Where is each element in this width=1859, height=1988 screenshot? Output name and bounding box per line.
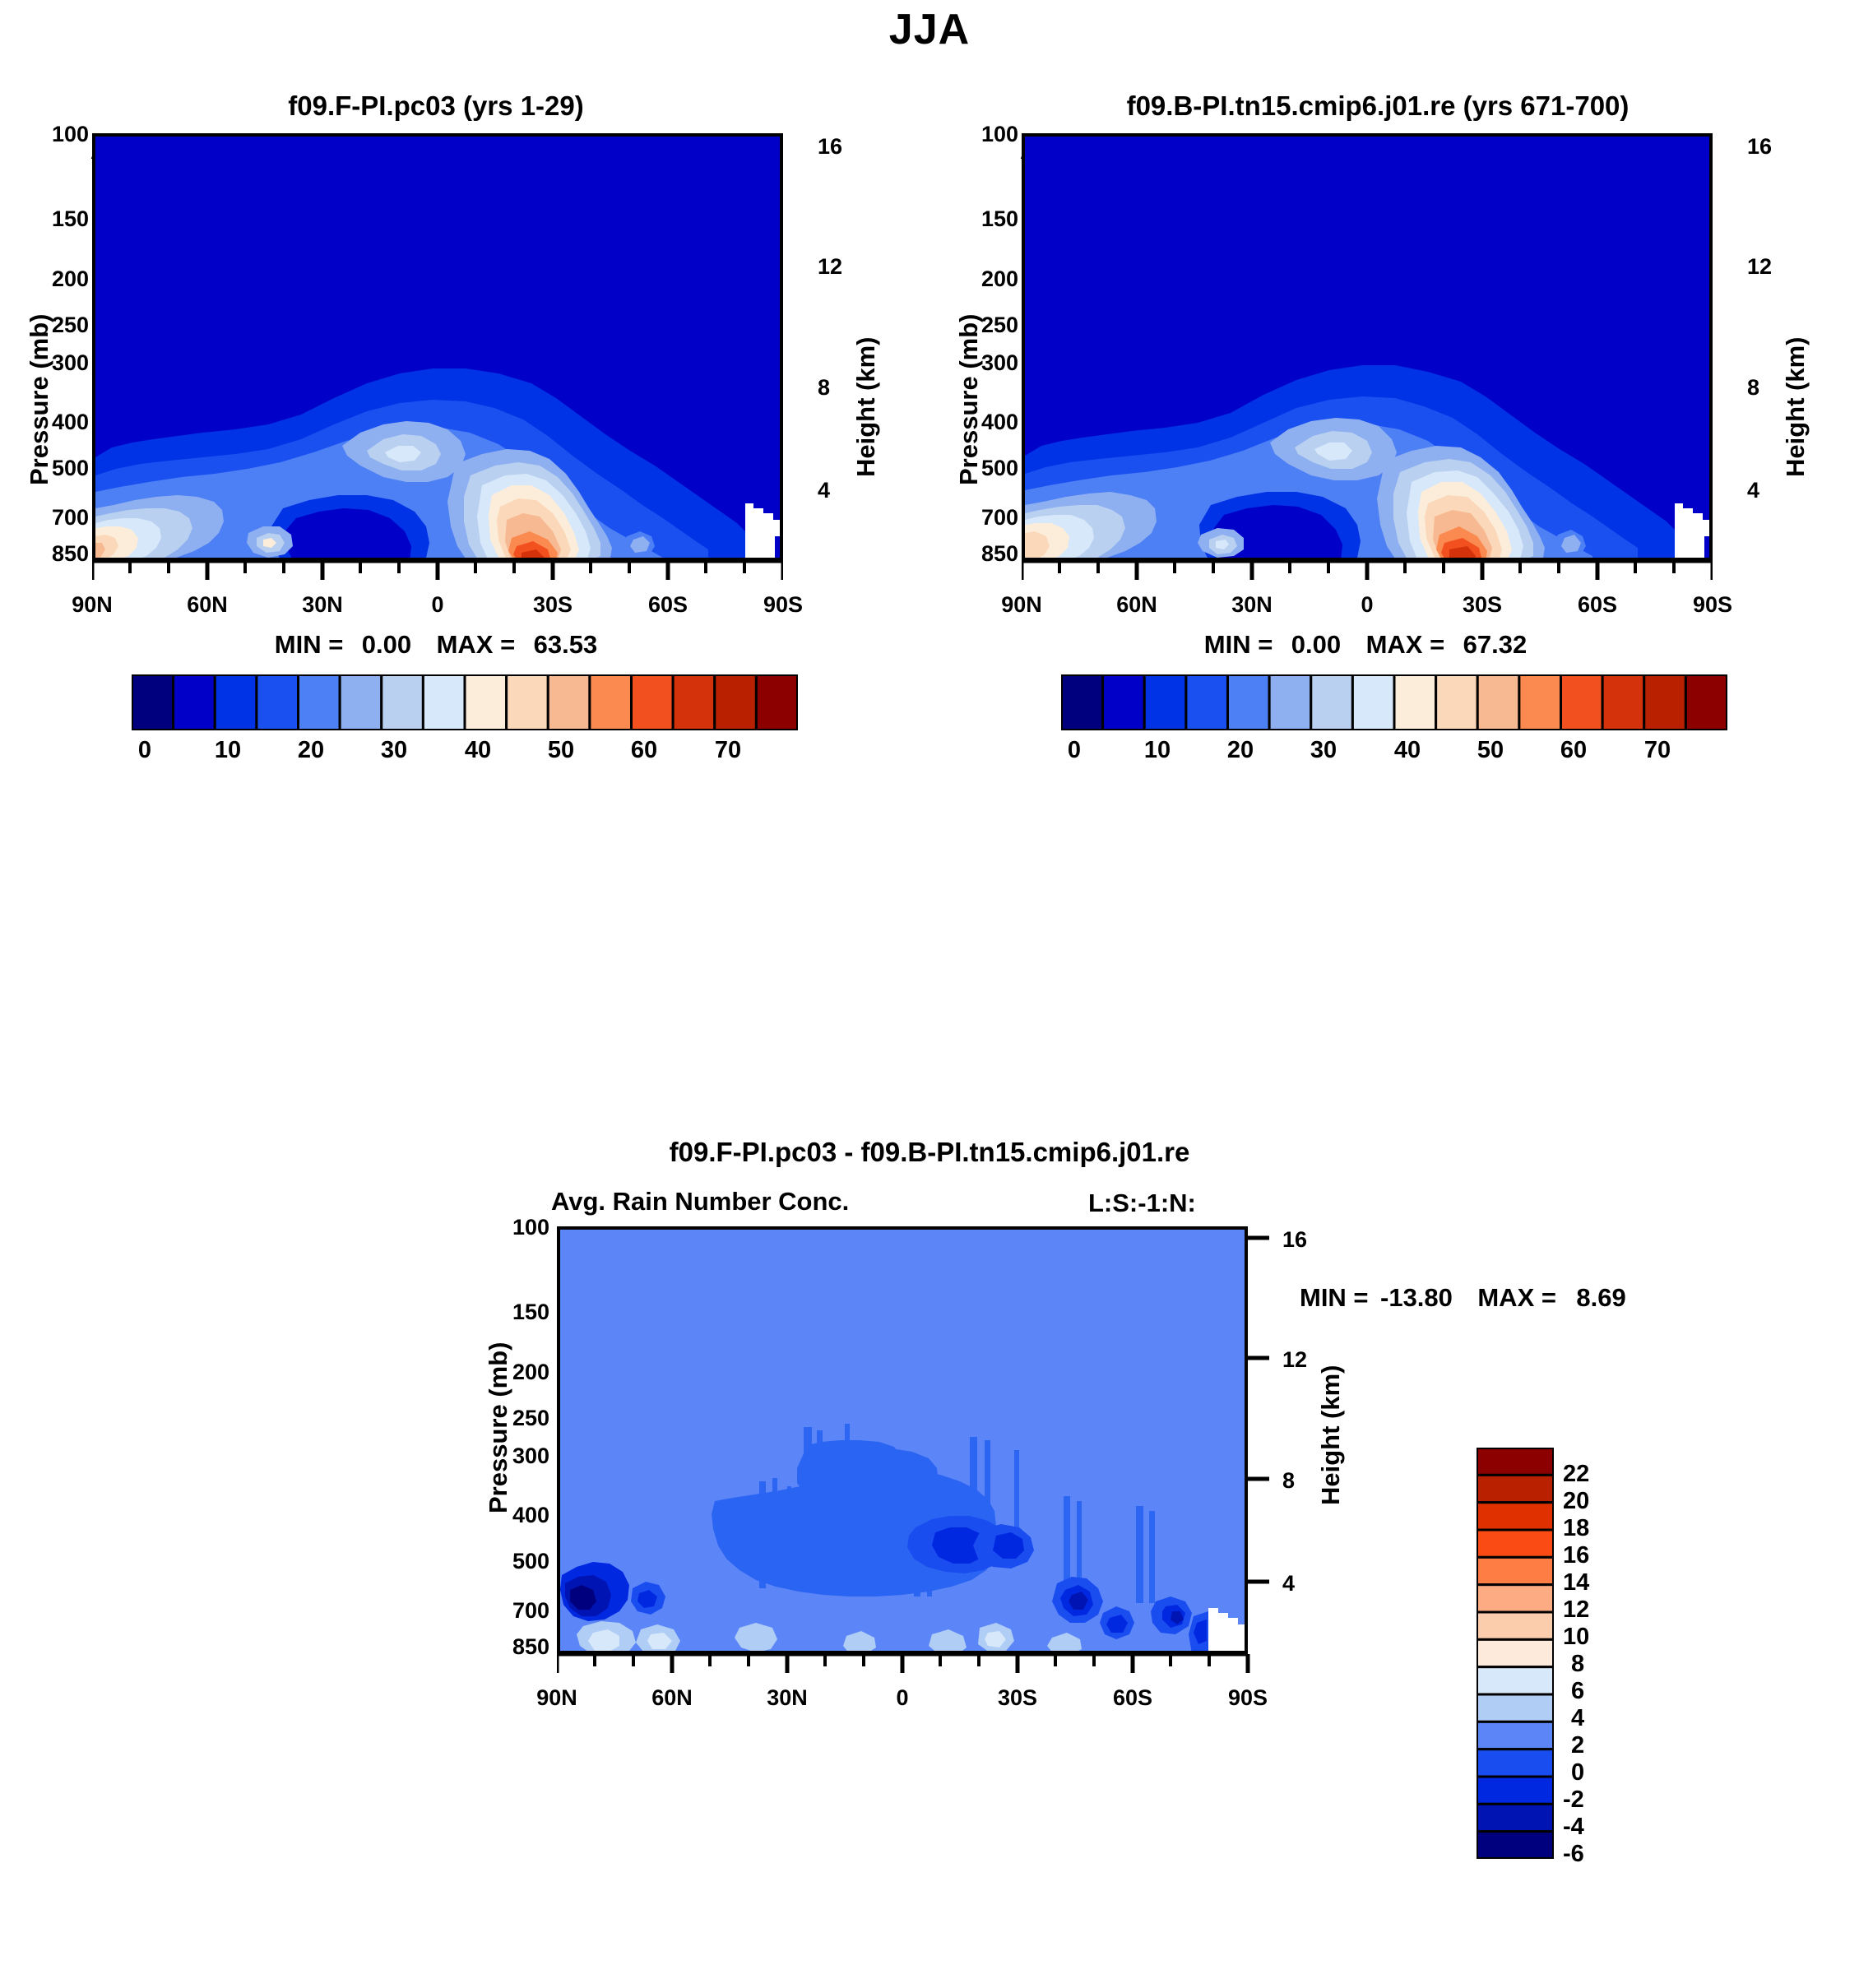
y2tick-8: 8 <box>1747 375 1788 401</box>
colorbar-swatch <box>1144 674 1186 730</box>
colorbar-swatch <box>1228 674 1270 730</box>
colorbar-swatch <box>423 674 465 730</box>
xtick-30N: 30N <box>290 592 355 618</box>
ytick-500: 500 <box>500 1549 549 1574</box>
cbtick-2: 2 <box>1571 1732 1584 1759</box>
colorbar-swatch <box>1061 674 1103 730</box>
ytick-100: 100 <box>500 1215 549 1240</box>
panel-bottom-subtitle-left: Avg. Rain Number Conc. <box>551 1187 849 1216</box>
max-label: MAX = <box>1366 630 1445 659</box>
cbtick-14: 14 <box>1563 1569 1589 1596</box>
xtick-60S: 60S <box>1100 1685 1166 1711</box>
min-value: 0.00 <box>362 630 411 659</box>
colorbar-swatch <box>673 674 715 730</box>
colorbar-swatch <box>132 674 174 730</box>
xtick-90N: 90N <box>989 592 1055 618</box>
xtick-60N: 60N <box>174 592 240 618</box>
y2tick-16: 16 <box>1747 134 1788 160</box>
colorbar-swatch <box>1352 674 1394 730</box>
ytick-700: 700 <box>969 505 1018 531</box>
colorbar-swatch <box>1477 674 1519 730</box>
y2tick-12: 12 <box>818 254 859 280</box>
ytick-850: 850 <box>969 541 1018 567</box>
panel-bottom-title: f09.F-PI.pc03 - f09.B-PI.tn15.cmip6.j01.… <box>461 1137 1398 1168</box>
panel-bottom-difference: f09.F-PI.pc03 - f09.B-PI.tn15.cmip6.j01.… <box>0 1102 1859 1988</box>
colorbar-swatch <box>1685 674 1727 730</box>
cbtick-10: 10 <box>1563 1624 1589 1651</box>
panel-top-left-y2label: Height (km) <box>851 337 881 478</box>
ytick-500: 500 <box>969 456 1018 481</box>
ytick-250: 250 <box>969 313 1018 338</box>
colorbar-swatch <box>1477 1804 1554 1831</box>
colorbar-swatch <box>1269 674 1311 730</box>
colorbar-swatch <box>257 674 299 730</box>
colorbar-swatch <box>1644 674 1686 730</box>
cbtick-n6: -6 <box>1563 1841 1584 1868</box>
y2tick-4: 4 <box>1747 478 1788 503</box>
colorbar-swatch <box>1602 674 1644 730</box>
figure-super-title: JJA <box>0 5 1859 54</box>
panel-top-left-axis-ticks <box>92 133 783 610</box>
ytick-150: 150 <box>39 206 89 232</box>
ytick-300: 300 <box>39 350 89 376</box>
panel-top-left: f09.F-PI.pc03 (yrs 1-29) Avg. Rain Numbe… <box>0 49 929 1135</box>
colorbar-swatch <box>1311 674 1353 730</box>
cbtick-60: 60 <box>1547 737 1600 764</box>
y2tick-8: 8 <box>818 375 859 401</box>
ytick-150: 150 <box>969 206 1018 232</box>
cbtick-70: 70 <box>702 737 754 764</box>
colorbar-swatch <box>1477 1749 1554 1777</box>
xtick-30S: 30S <box>985 1685 1050 1711</box>
min-label: MIN = <box>1204 630 1273 659</box>
ytick-200: 200 <box>39 266 89 292</box>
colorbar-swatch <box>590 674 632 730</box>
ytick-250: 250 <box>500 1406 549 1431</box>
panel-top-right-axis-ticks <box>1022 133 1713 610</box>
y2tick-12: 12 <box>1747 254 1788 280</box>
colorbar-swatch <box>756 674 798 730</box>
colorbar-swatch <box>215 674 257 730</box>
colorbar-swatch <box>632 674 674 730</box>
min-value: 0.00 <box>1291 630 1341 659</box>
colorbar-swatch <box>1477 1612 1554 1639</box>
xtick-60S: 60S <box>1565 592 1630 618</box>
cbtick-10: 10 <box>202 737 254 764</box>
colorbar-swatch <box>1477 1530 1554 1557</box>
ytick-700: 700 <box>39 505 89 531</box>
ytick-400: 400 <box>39 410 89 435</box>
panel-top-right: f09.B-PI.tn15.cmip6.j01.re (yrs 671-700)… <box>929 49 1859 1135</box>
ytick-250: 250 <box>39 313 89 338</box>
min-label: MIN = <box>275 630 344 659</box>
cbtick-0: 0 <box>1571 1759 1584 1786</box>
panel-top-right-colorbar[interactable] <box>1061 674 1727 730</box>
xtick-0: 0 <box>405 592 471 618</box>
ytick-100: 100 <box>969 122 1018 147</box>
colorbar-swatch <box>1477 1557 1554 1584</box>
cbtick-20: 20 <box>1214 737 1267 764</box>
xtick-30S: 30S <box>1449 592 1515 618</box>
colorbar-swatch <box>299 674 341 730</box>
colorbar-swatch <box>548 674 590 730</box>
xtick-30N: 30N <box>1219 592 1285 618</box>
colorbar-swatch <box>382 674 424 730</box>
max-label: MAX = <box>437 630 516 659</box>
colorbar-swatch <box>1477 1475 1554 1502</box>
cbtick-0: 0 <box>1048 737 1101 764</box>
colorbar-swatch <box>1103 674 1145 730</box>
colorbar-swatch <box>1477 1777 1554 1804</box>
panel-bottom-colorbar-ticklabels: 22 20 18 16 14 12 10 8 6 4 2 0 -2 -4 -6 <box>1563 1448 1670 1875</box>
xtick-90S: 90S <box>1680 592 1745 618</box>
panel-bottom-axis-ticks <box>557 1226 1297 1703</box>
ytick-100: 100 <box>39 122 89 147</box>
ytick-500: 500 <box>39 456 89 481</box>
cbtick-30: 30 <box>368 737 420 764</box>
cbtick-30: 30 <box>1297 737 1350 764</box>
colorbar-swatch <box>1477 1722 1554 1749</box>
y2tick-16: 16 <box>818 134 859 160</box>
colorbar-swatch <box>1436 674 1478 730</box>
colorbar-swatch <box>174 674 216 730</box>
colorbar-swatch <box>465 674 507 730</box>
cbtick-0: 0 <box>118 737 171 764</box>
panel-top-left-title: f09.F-PI.pc03 (yrs 1-29) <box>0 90 872 122</box>
panel-top-left-minmax: MIN = 0.00 MAX = 63.53 <box>0 630 872 660</box>
colorbar-swatch <box>507 674 549 730</box>
cbtick-4: 4 <box>1571 1705 1584 1732</box>
colorbar-swatch <box>1186 674 1228 730</box>
ytick-850: 850 <box>500 1634 549 1660</box>
y2tick-4: 4 <box>818 478 859 503</box>
xtick-90N: 90N <box>524 1685 590 1711</box>
colorbar-swatch <box>1477 1667 1554 1694</box>
ytick-400: 400 <box>500 1503 549 1528</box>
cbtick-6: 6 <box>1571 1678 1584 1705</box>
ytick-200: 200 <box>500 1360 549 1385</box>
xtick-60S: 60S <box>635 592 701 618</box>
min-label: MIN = <box>1300 1283 1369 1312</box>
xtick-90N: 90N <box>59 592 125 618</box>
cbtick-n4: -4 <box>1563 1814 1584 1841</box>
xtick-60N: 60N <box>639 1685 705 1711</box>
cbtick-8: 8 <box>1571 1651 1584 1678</box>
ytick-700: 700 <box>500 1598 549 1624</box>
colorbar-swatch <box>1477 1639 1554 1666</box>
colorbar-swatch <box>1519 674 1561 730</box>
colorbar-swatch <box>715 674 757 730</box>
xtick-90S: 90S <box>1215 1685 1281 1711</box>
cbtick-20: 20 <box>285 737 337 764</box>
panel-bottom-colorbar[interactable] <box>1477 1448 1554 1859</box>
cbtick-50: 50 <box>535 737 587 764</box>
xtick-60N: 60N <box>1104 592 1170 618</box>
colorbar-swatch <box>340 674 382 730</box>
xtick-30S: 30S <box>520 592 586 618</box>
ytick-400: 400 <box>969 410 1018 435</box>
cbtick-20: 20 <box>1563 1488 1589 1515</box>
colorbar-swatch <box>1477 1832 1554 1859</box>
cbtick-50: 50 <box>1464 737 1517 764</box>
cbtick-70: 70 <box>1631 737 1684 764</box>
xtick-90S: 90S <box>750 592 816 618</box>
max-value: 67.32 <box>1463 630 1528 659</box>
panel-top-left-colorbar[interactable] <box>132 674 798 730</box>
cbtick-40: 40 <box>452 737 504 764</box>
ytick-200: 200 <box>969 266 1018 292</box>
xtick-30N: 30N <box>754 1685 820 1711</box>
cbtick-12: 12 <box>1563 1596 1589 1624</box>
cbtick-16: 16 <box>1563 1542 1589 1569</box>
max-value: 8.69 <box>1576 1283 1625 1312</box>
colorbar-swatch <box>1477 1448 1554 1475</box>
cbtick-n2: -2 <box>1563 1786 1584 1814</box>
ytick-300: 300 <box>500 1444 549 1469</box>
ytick-150: 150 <box>500 1300 549 1325</box>
colorbar-swatch <box>1477 1694 1554 1722</box>
panel-top-right-minmax: MIN = 0.00 MAX = 67.32 <box>929 630 1801 660</box>
ytick-300: 300 <box>969 350 1018 376</box>
colorbar-swatch <box>1561 674 1603 730</box>
ytick-850: 850 <box>39 541 89 567</box>
panel-bottom-minmax: MIN = -13.80 MAX = 8.69 <box>1300 1283 1626 1313</box>
cbtick-40: 40 <box>1381 737 1434 764</box>
colorbar-swatch <box>1477 1585 1554 1612</box>
panel-top-right-title: f09.B-PI.tn15.cmip6.j01.re (yrs 671-700) <box>929 90 1826 122</box>
xtick-0: 0 <box>1334 592 1400 618</box>
colorbar-swatch <box>1394 674 1436 730</box>
cbtick-18: 18 <box>1563 1515 1589 1542</box>
colorbar-swatch <box>1477 1503 1554 1530</box>
max-label: MAX = <box>1477 1283 1556 1312</box>
panel-top-right-colorbar-ticklabels: 0 10 20 30 40 50 60 70 <box>1061 737 1727 770</box>
max-value: 63.53 <box>534 630 598 659</box>
cbtick-22: 22 <box>1563 1461 1589 1488</box>
panel-bottom-subtitle-right: L:S:-1:N: <box>1088 1189 1196 1218</box>
panel-top-right-y2label: Height (km) <box>1781 337 1810 478</box>
xtick-0: 0 <box>869 1685 935 1711</box>
cbtick-60: 60 <box>618 737 670 764</box>
cbtick-10: 10 <box>1131 737 1184 764</box>
panel-top-left-colorbar-ticklabels: 0 10 20 30 40 50 60 70 <box>132 737 798 770</box>
min-value: -13.80 <box>1380 1283 1453 1312</box>
